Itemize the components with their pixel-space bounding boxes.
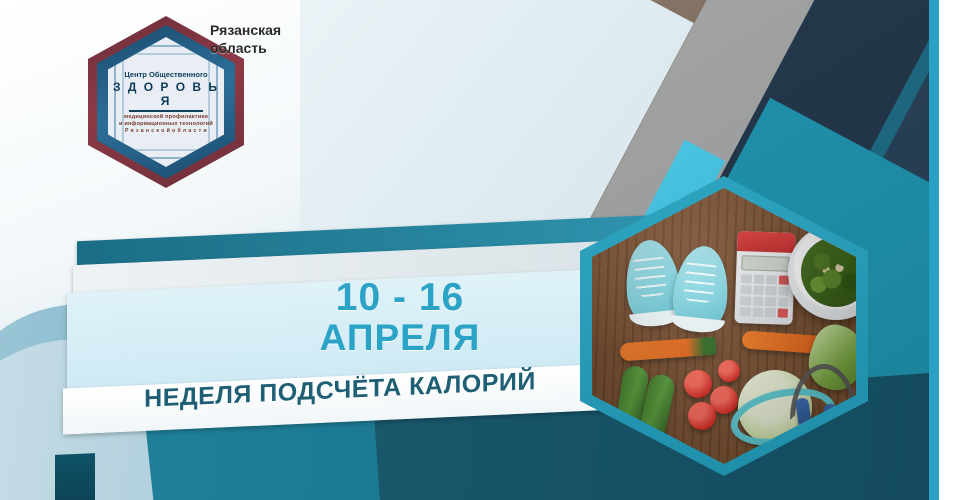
date-range: 10 - 16 xyxy=(230,278,570,319)
carrot-icon xyxy=(619,337,716,362)
logo-line-3: медицинской профилактики xyxy=(124,114,208,120)
calculator-key xyxy=(752,308,763,317)
calculator-key xyxy=(778,275,789,284)
salad-greens xyxy=(801,237,856,307)
logo-line-2: З Д О Р О В Ь Я xyxy=(108,80,224,108)
calculator-key xyxy=(741,274,752,283)
calculator-key xyxy=(753,286,764,295)
poster-canvas: Центр Общественного З Д О Р О В Ь Я меди… xyxy=(0,0,965,500)
calculator-screen xyxy=(741,255,789,272)
photo-healthy-lifestyle-flatlay xyxy=(592,188,856,464)
logo-line-5: Р я з а н с к о й о б л а с т и xyxy=(125,128,207,134)
logo-line-4: и информационных технологий xyxy=(119,121,213,127)
jump-rope-cord xyxy=(790,364,856,420)
cabbage-icon xyxy=(738,370,812,444)
calculator-top-bar xyxy=(737,231,796,253)
calculator-key xyxy=(765,286,776,295)
background-right-edge-white xyxy=(939,0,965,500)
tomato-icon xyxy=(684,370,712,398)
calculator-key xyxy=(766,275,777,284)
tomato-icon xyxy=(688,402,716,430)
green-onion-icon xyxy=(801,319,856,397)
date-month: АПРЕЛЯ xyxy=(230,319,570,358)
date-block: 10 - 16 АПРЕЛЯ xyxy=(230,278,570,358)
sneakers-icon xyxy=(622,237,685,328)
region-label: Рязанская область xyxy=(210,22,281,57)
calculator-key xyxy=(765,297,776,306)
calculator-key xyxy=(765,308,776,317)
ribbon-tail xyxy=(55,453,95,500)
logo-line-1: Центр Общественного xyxy=(124,70,207,79)
region-label-line-2: область xyxy=(210,40,281,58)
background-right-edge-teal xyxy=(929,0,939,500)
logo-hex-core: Центр Общественного З Д О Р О В Ь Я меди… xyxy=(108,37,224,167)
region-label-line-1: Рязанская xyxy=(210,22,281,40)
calculator-key xyxy=(740,296,751,305)
tomato-icon xyxy=(710,386,738,414)
calculator-key xyxy=(740,285,751,294)
calculator-icon xyxy=(734,231,795,325)
calculator-keys xyxy=(740,274,789,318)
calculator-key xyxy=(753,275,764,284)
sneaker-sole xyxy=(629,309,684,329)
logo-text-block: Центр Общественного З Д О Р О В Ь Я меди… xyxy=(108,37,224,167)
calculator-key xyxy=(777,308,788,317)
tomato-icon xyxy=(718,360,740,382)
logo-divider xyxy=(129,110,203,112)
calculator-key xyxy=(778,286,789,295)
calculator-key xyxy=(753,297,764,306)
calculator-key xyxy=(778,297,789,306)
carrot-icon xyxy=(741,330,846,355)
calculator-key xyxy=(740,307,751,316)
sneaker-sole xyxy=(670,315,725,335)
sneakers-icon xyxy=(670,243,733,334)
